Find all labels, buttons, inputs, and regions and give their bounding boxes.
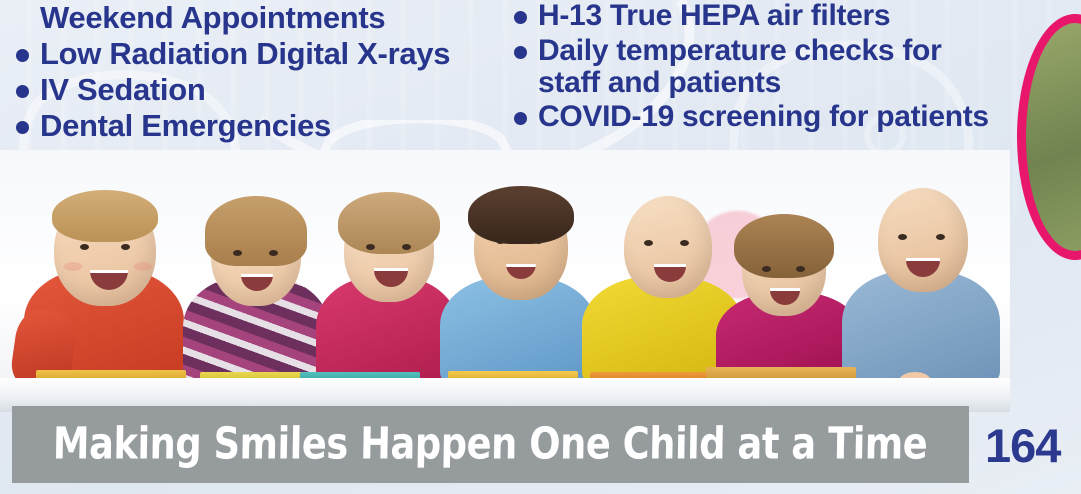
child-boy-blue-shirt: [438, 190, 600, 390]
child-eye: [796, 266, 805, 272]
services-column-left: Weekend Appointments Low Radiation Digit…: [16, 2, 450, 145]
child-hair: [468, 186, 574, 244]
list-item: Low Radiation Digital X-rays: [16, 38, 450, 71]
child-hair: [338, 192, 440, 254]
child-eye: [936, 234, 945, 240]
page-number: 164: [985, 418, 1060, 473]
child-eye: [644, 240, 653, 246]
bullet-icon: [16, 121, 29, 134]
child-blush: [134, 262, 152, 271]
child-eye: [402, 244, 411, 250]
child-eye: [80, 244, 89, 250]
child-hair: [734, 214, 834, 278]
list-item: Daily temperature checks for staff and p…: [514, 35, 989, 99]
bullet-icon: [514, 46, 527, 59]
list-item: Dental Emergencies: [16, 110, 450, 143]
child-eye: [366, 244, 375, 250]
child-hair: [52, 190, 158, 242]
list-item-label: COVID-19 screening for patients: [538, 101, 989, 133]
list-item-label: Low Radiation Digital X-rays: [40, 38, 450, 71]
list-item: Weekend Appointments: [16, 2, 450, 35]
services-column-right: H-13 True HEPA air filters Daily tempera…: [514, 0, 989, 136]
list-item-label: Daily temperature checks for staff and p…: [538, 35, 941, 99]
child-eye: [496, 238, 505, 244]
list-item-label: Weekend Appointments: [40, 2, 385, 35]
child-boy-red-shirt: [18, 190, 193, 390]
child-eye: [269, 250, 278, 256]
bullet-icon: [16, 13, 29, 26]
child-hair: [205, 196, 307, 266]
tagline-text-wrap: Making Smiles Happen One Child at a Time: [12, 418, 969, 469]
child-eye: [534, 238, 543, 244]
advertisement: Weekend Appointments Low Radiation Digit…: [0, 0, 1081, 494]
child-blush: [64, 262, 82, 271]
children-photo: [0, 150, 1010, 412]
child-head: [624, 196, 712, 298]
list-item: COVID-19 screening for patients: [514, 101, 989, 133]
tagline-banner: Making Smiles Happen One Child at a Time: [12, 406, 969, 483]
child-eye: [121, 244, 130, 250]
bullet-icon: [514, 11, 527, 24]
child-eye: [898, 234, 907, 240]
list-item-label: Dental Emergencies: [40, 110, 331, 143]
list-item: H-13 True HEPA air filters: [514, 0, 989, 32]
child-eye: [762, 266, 771, 272]
list-item-label: IV Sedation: [40, 74, 206, 107]
child-eye: [233, 250, 242, 256]
list-item: IV Sedation: [16, 74, 450, 107]
bullet-icon: [16, 49, 29, 62]
bullet-icon: [16, 85, 29, 98]
bullet-icon: [514, 112, 527, 125]
child-girl-striped-sweater: [175, 194, 335, 390]
child-eye: [680, 240, 689, 246]
tagline-text: Making Smiles Happen One Child at a Time: [53, 418, 928, 469]
list-item-label: H-13 True HEPA air filters: [538, 0, 890, 32]
child-girl-denim-jacket: [838, 184, 1008, 390]
